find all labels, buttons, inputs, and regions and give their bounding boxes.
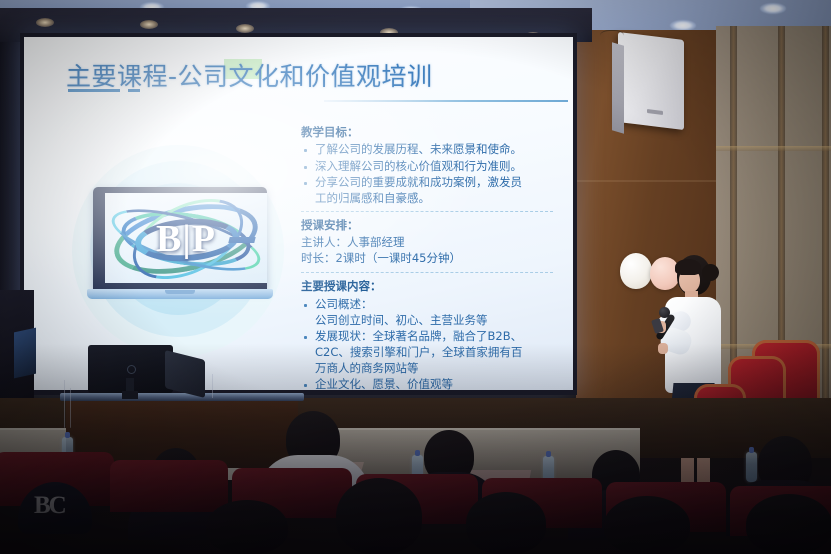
bullet-item: 企业文化、愿景、价值观等 <box>301 377 553 390</box>
section-heading-content: 主要授课内容： <box>301 279 553 293</box>
slide-body-text: 教学目标： 了解公司的发展历程、未来愿景和使命。 深入理解公司的核心价值观和行为… <box>301 125 553 390</box>
laptop-lid: B|P <box>93 187 267 291</box>
conference-room-photo: 主要课程-公司文化和价值观培训 B|P <box>0 0 831 554</box>
podium-cable <box>64 380 65 428</box>
monitor-stand <box>122 391 138 399</box>
presenter-hair-bun <box>702 264 719 281</box>
bullet-item: 发展现状：全球著名品牌，融合了B2B、 <box>301 329 553 344</box>
bullet-continuation: 万商人的商务网站等 <box>301 361 553 376</box>
company-logo-text: B|P <box>105 217 267 261</box>
bullet-continuation: 工的归属感和自豪感。 <box>301 191 553 206</box>
beam-accent-light <box>36 18 54 27</box>
ceiling-downlight <box>760 3 786 14</box>
title-underline-dot <box>128 89 140 92</box>
audience-head-front <box>206 500 288 554</box>
left-monitor-edge <box>14 328 36 379</box>
bullet-continuation: C2C、搜索引擎和门户，全球首家拥有百 <box>301 345 553 360</box>
chair-seatback <box>110 460 228 512</box>
wall-trim <box>716 146 831 151</box>
audience-head-front <box>746 494 831 554</box>
presenter <box>655 255 733 503</box>
laptop-trackpad-notch <box>165 290 195 294</box>
bullet-item: 深入理解公司的核心价值观和行为准则。 <box>301 159 553 174</box>
dell-logo-icon <box>127 365 136 374</box>
podium-cable <box>212 374 213 398</box>
speaker-side-face <box>612 42 624 133</box>
audience-head-front <box>336 478 422 554</box>
title-underline <box>68 89 120 92</box>
beam-accent-light <box>236 24 254 33</box>
balloon-white <box>620 253 652 289</box>
title-right-rule <box>324 100 568 102</box>
audience-head-front <box>604 496 690 554</box>
laptop-display: B|P <box>105 193 267 283</box>
speaker-cable <box>600 30 624 44</box>
section-divider <box>301 272 553 273</box>
bullet-item: 分享公司的重要成就和成功案例，激发员 <box>301 175 553 190</box>
bullet-continuation: 公司创立时间、初心、主营业务等 <box>301 313 553 328</box>
section-heading-arrangement: 授课安排： <box>301 218 553 232</box>
audience-head-front <box>466 492 546 554</box>
slide-title: 主要课程-公司文化和价值观培训 <box>66 57 433 93</box>
bullet-item: 了解公司的发展历程、未来愿景和使命。 <box>301 142 553 157</box>
section-heading-objectives: 教学目标： <box>301 125 553 139</box>
presenter-hand <box>658 343 668 354</box>
water-bottle <box>746 452 757 482</box>
presenter-fringe <box>675 259 701 275</box>
laptop-illustration: B|P <box>87 187 273 309</box>
beam-accent-light <box>140 20 158 29</box>
arrangement-line: 主讲人：人事部经理 <box>301 235 553 251</box>
wall-divider <box>822 26 829 436</box>
section-divider <box>301 211 553 212</box>
projection-screen: 主要课程-公司文化和价值观培训 B|P <box>24 37 573 390</box>
wall-speaker <box>618 32 684 130</box>
bullet-item: 公司概述： <box>301 297 553 312</box>
podium-top-surface <box>60 393 304 401</box>
podium-cable <box>70 388 71 428</box>
arrangement-line: 时长：2课时（一课时45分钟） <box>301 251 553 267</box>
cap-lettering: BC <box>34 492 68 526</box>
microphone-head <box>659 307 670 318</box>
